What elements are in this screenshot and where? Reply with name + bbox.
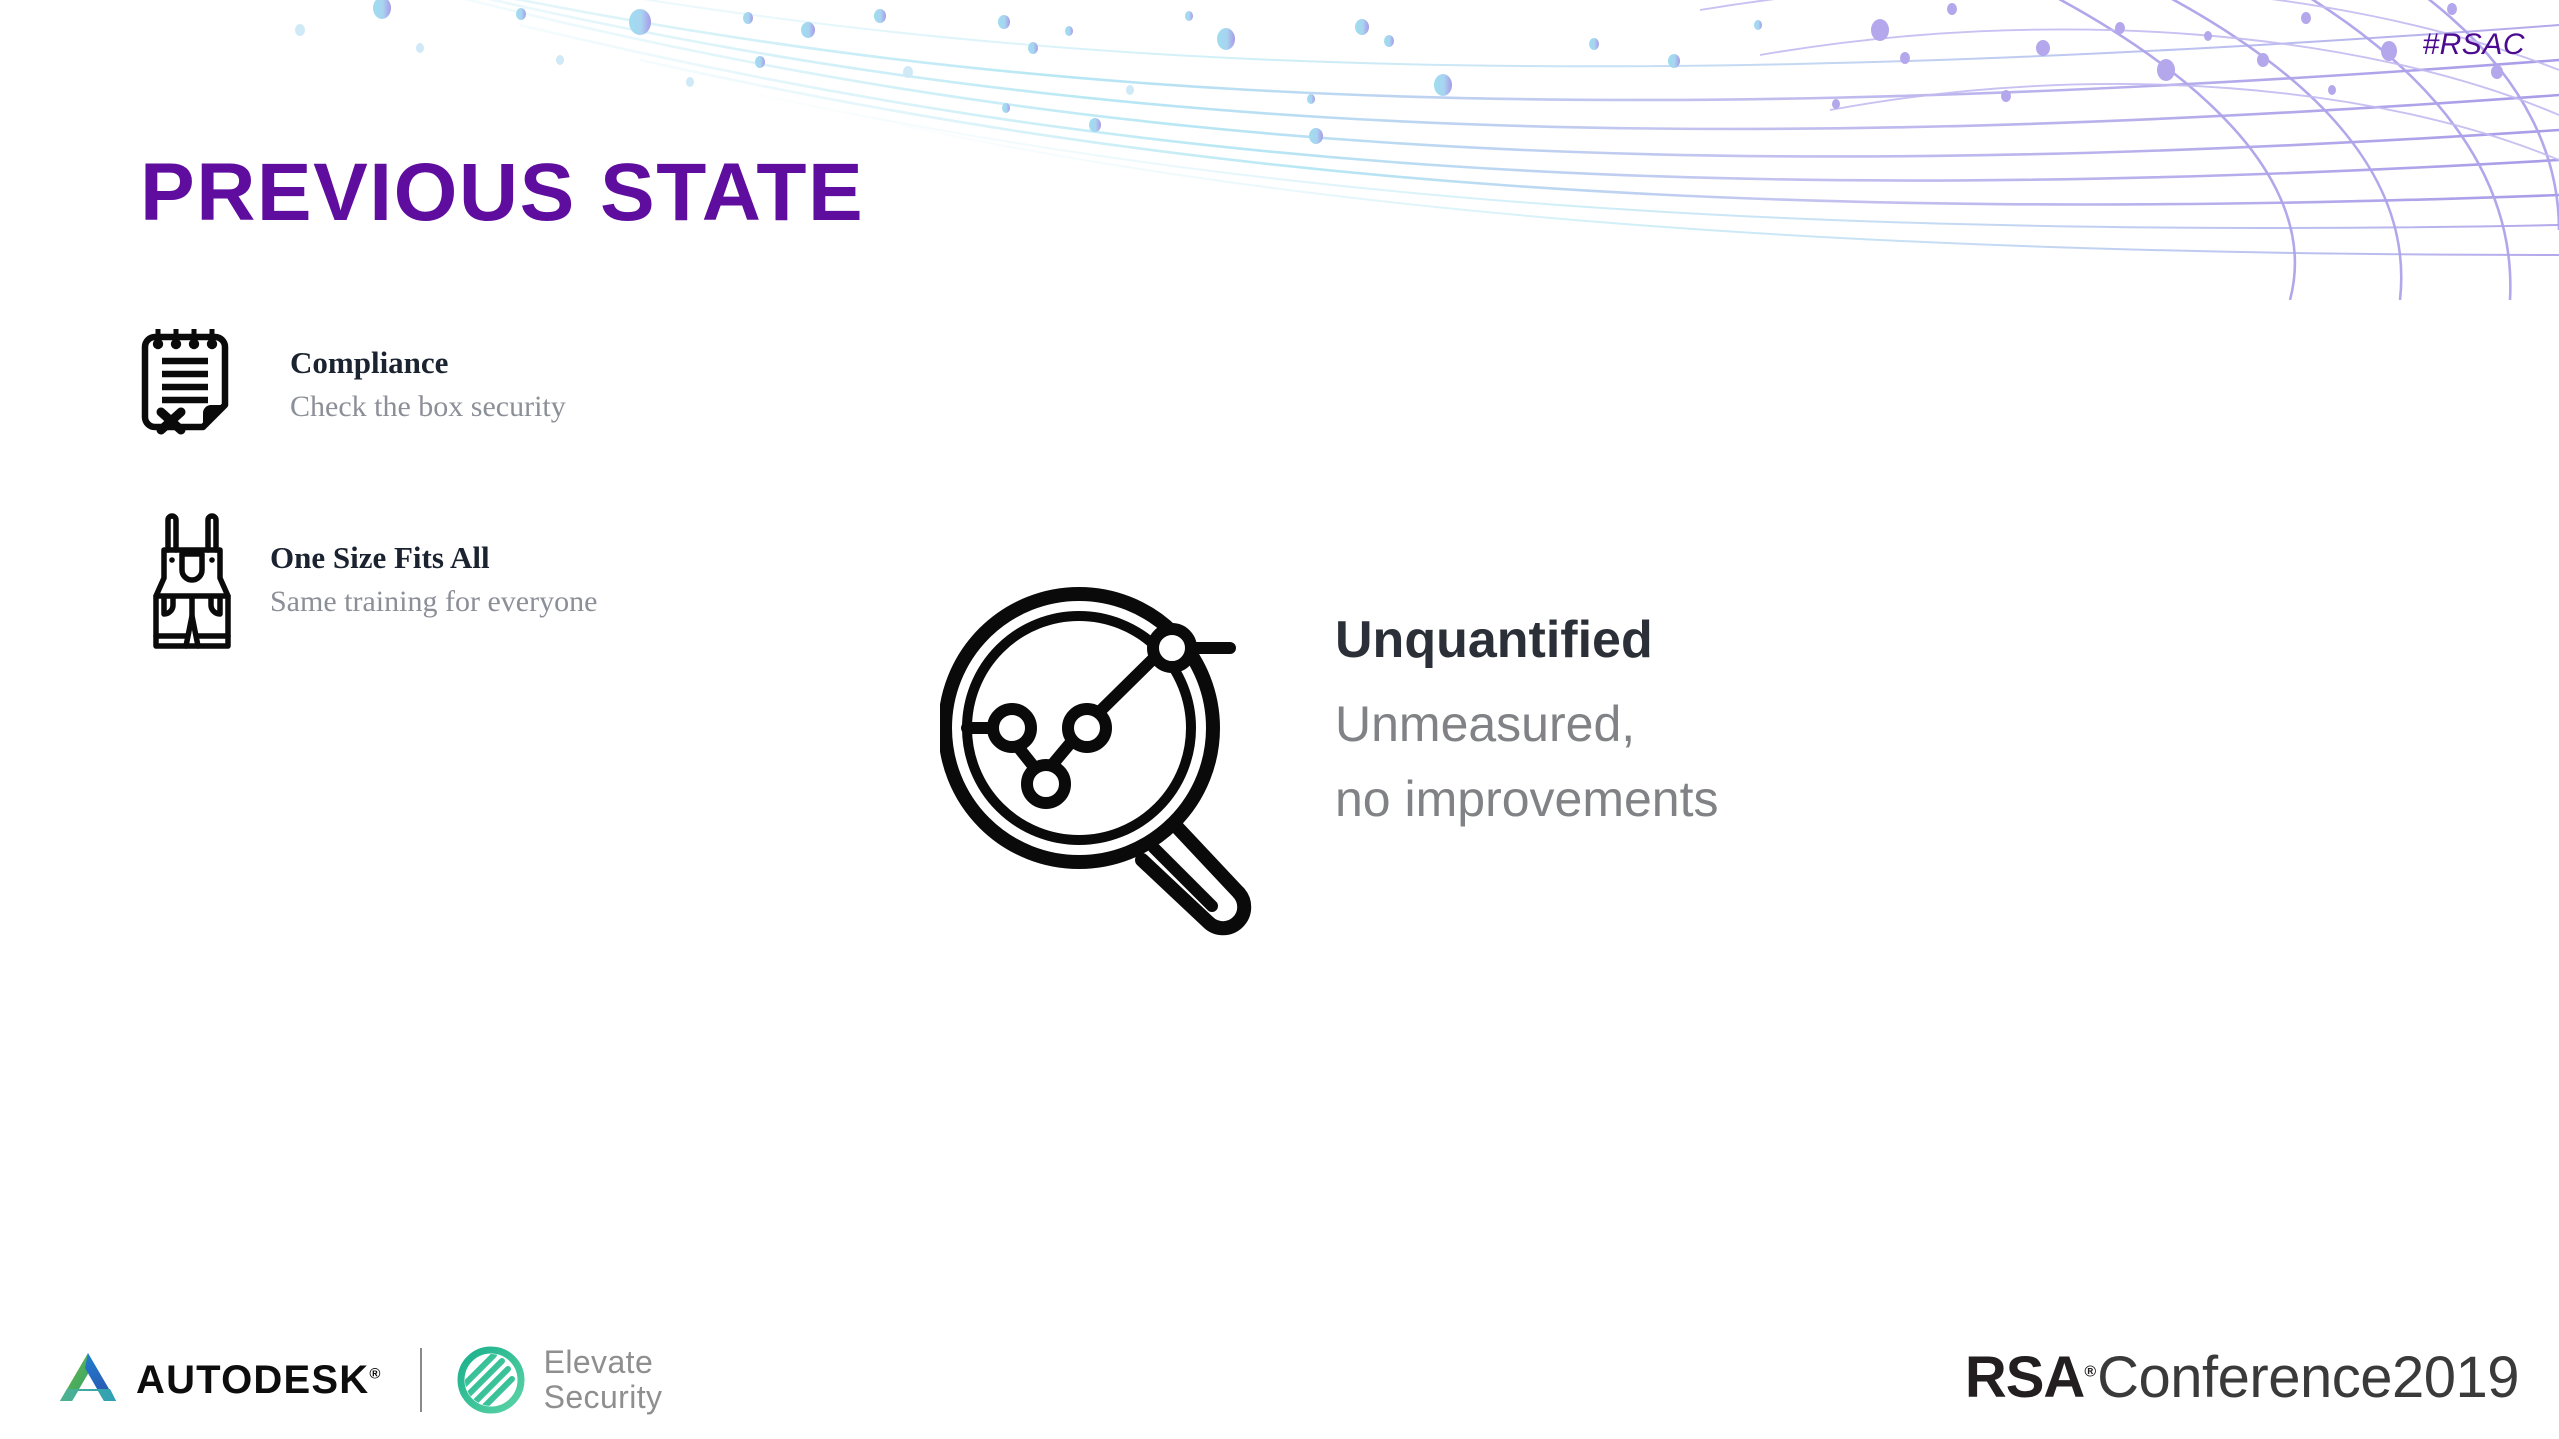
slide-title: PREVIOUS STATE — [140, 150, 864, 236]
conference-mark: Conference2019 — [2097, 1344, 2519, 1411]
autodesk-wordmark-text: AUTODESK — [136, 1358, 369, 1402]
magnifier-chart-icon — [940, 552, 1290, 942]
overalls-icon — [142, 510, 242, 650]
footer-divider — [420, 1348, 422, 1412]
rsa-registered-mark: ® — [2084, 1364, 2095, 1381]
elevate-wordmark-line-1: Elevate — [544, 1345, 663, 1380]
rsa-conference-logo: RSA® Conference2019 — [1965, 1344, 2519, 1411]
footer-sponsor-logos: AUTODESK® Elevate Security — [58, 1343, 662, 1417]
bullet-compliance-subtitle: Check the box security — [290, 387, 566, 426]
feature-block: Unquantified Unmeasured, no improvements — [940, 552, 1719, 942]
feature-heading: Unquantified — [1335, 612, 1719, 669]
bullet-one-size-fits-all: One Size Fits All Same training for ever… — [142, 510, 597, 650]
elevate-wordmark: Elevate Security — [544, 1345, 663, 1414]
autodesk-logo-group: AUTODESK® — [58, 1351, 382, 1409]
elevate-logo-group: Elevate Security — [454, 1343, 663, 1417]
autodesk-registered-mark: ® — [369, 1365, 381, 1382]
feature-subtitle-line-1: Unmeasured, — [1335, 687, 1719, 762]
autodesk-logo-icon — [58, 1351, 124, 1409]
feature-subtitle: Unmeasured, no improvements — [1335, 687, 1719, 837]
bullet-compliance: Compliance Check the box security — [138, 325, 566, 445]
feature-subtitle-line-2: no improvements — [1335, 762, 1719, 837]
bullet-compliance-text: Compliance Check the box security — [290, 344, 566, 426]
elevate-security-logo-icon — [454, 1343, 528, 1417]
feature-text: Unquantified Unmeasured, no improvements — [1335, 612, 1719, 837]
elevate-wordmark-line-2: Security — [544, 1380, 663, 1415]
notepad-x-icon — [138, 325, 238, 445]
bullet-one-size-title: One Size Fits All — [270, 539, 597, 578]
autodesk-wordmark: AUTODESK® — [136, 1358, 382, 1403]
rsac-hashtag: #RSAC — [2422, 28, 2525, 62]
rsa-mark: RSA® — [1965, 1344, 2095, 1411]
bullet-one-size-subtitle: Same training for everyone — [270, 582, 597, 621]
bullet-one-size-text: One Size Fits All Same training for ever… — [270, 539, 597, 621]
bullet-compliance-title: Compliance — [290, 344, 566, 383]
rsa-mark-text: RSA — [1965, 1345, 2084, 1410]
